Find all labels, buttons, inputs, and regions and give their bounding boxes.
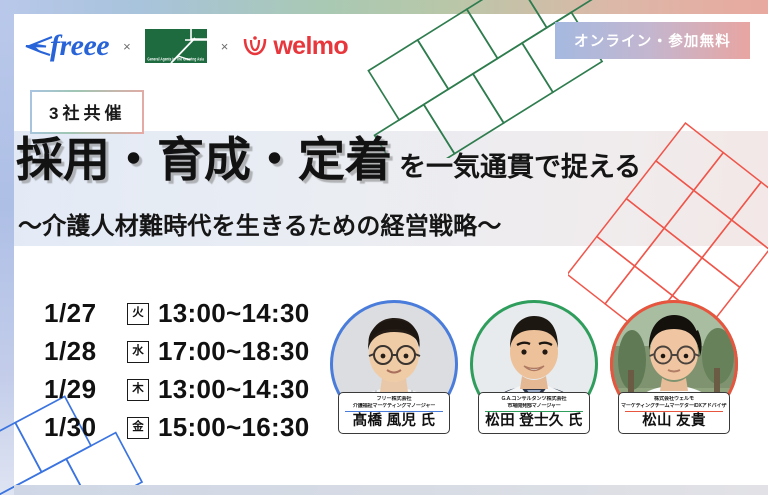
freee-logo: freee bbox=[24, 29, 109, 63]
speaker-org: G.A.コンサルタンツ株式会社 bbox=[481, 396, 587, 403]
headline-subtitle: 〜介護人材難時代を生きるための経営戦略〜 bbox=[18, 206, 502, 241]
schedule-date: 1/29 bbox=[44, 374, 118, 405]
headline: 採用・育成・定着 を一気通貫で捉える bbox=[16, 136, 641, 183]
schedule-time: 13:00~14:30 bbox=[158, 298, 309, 329]
schedule-row: 1/30金15:00~16:30 bbox=[44, 412, 309, 443]
schedule-row: 1/27火13:00~14:30 bbox=[44, 298, 309, 329]
speaker-name-card: 株式会社ウェルモマーケティングチームマーケター/DXアドバイザー松山 友貴 bbox=[618, 392, 730, 434]
speaker-role: 介護福祉マーケティングマノージャー bbox=[341, 403, 447, 411]
schedule-weekday: 水 bbox=[127, 341, 149, 363]
speaker-name-card: G.A.コンサルタンツ株式会社市場開発部マノージャー松田 登士久 氏 bbox=[478, 392, 590, 434]
schedule-date: 1/30 bbox=[44, 412, 118, 443]
online-free-badge: オンライン・参加無料 bbox=[555, 22, 750, 59]
bottom-bar bbox=[14, 485, 768, 495]
left-gradient-bar bbox=[0, 14, 14, 495]
speaker-role: 市場開発部マノージャー bbox=[481, 403, 587, 411]
schedule-weekday: 金 bbox=[127, 417, 149, 439]
schedule-list: 1/27火13:00~14:301/28水17:00~18:301/29木13:… bbox=[44, 298, 309, 443]
schedule-weekday: 火 bbox=[127, 303, 149, 325]
speaker-role: マーケティングチームマーケター/DXアドバイザー bbox=[621, 403, 727, 411]
speaker-name: 髙橋 風児 氏 bbox=[341, 414, 447, 430]
ga-tagline: General Agents In The Growing Asia bbox=[145, 57, 207, 62]
promo-banner: freee × General Agents In The Growing As… bbox=[0, 0, 768, 495]
headline-suffix: を一気通貫で捉える bbox=[399, 154, 641, 183]
logo-row: freee × General Agents In The Growing As… bbox=[24, 26, 348, 66]
schedule-date: 1/28 bbox=[44, 336, 118, 367]
speaker-name: 松田 登士久 氏 bbox=[481, 414, 587, 430]
welmo-w-icon bbox=[242, 35, 268, 57]
schedule-time: 15:00~16:30 bbox=[158, 412, 309, 443]
speaker-org: 株式会社ウェルモ bbox=[621, 396, 727, 403]
speaker-card: G.A.コンサルタンツ株式会社市場開発部マノージャー松田 登士久 氏 bbox=[470, 300, 598, 428]
speaker-card: 株式会社ウェルモマーケティングチームマーケター/DXアドバイザー松山 友貴 bbox=[610, 300, 738, 428]
speaker-org: フリー株式会社 bbox=[341, 396, 447, 403]
freee-wordmark: freee bbox=[50, 31, 109, 61]
welmo-wordmark: welmo bbox=[273, 34, 348, 59]
cohost-badge: 3社共催 bbox=[30, 90, 144, 134]
speaker-list: フリー株式会社介護福祉マーケティングマノージャー髙橋 風児 氏 G.A.コンサル… bbox=[330, 300, 738, 428]
schedule-row: 1/29木13:00~14:30 bbox=[44, 374, 309, 405]
logo-separator-2: × bbox=[221, 39, 229, 54]
welmo-logo: welmo bbox=[242, 34, 348, 59]
schedule-date: 1/27 bbox=[44, 298, 118, 329]
logo-separator-1: × bbox=[123, 39, 131, 54]
headline-main: 採用・育成・定着 bbox=[16, 136, 392, 183]
speaker-name: 松山 友貴 bbox=[621, 414, 727, 430]
schedule-time: 17:00~18:30 bbox=[158, 336, 309, 367]
schedule-time: 13:00~14:30 bbox=[158, 374, 309, 405]
speaker-name-card: フリー株式会社介護福祉マーケティングマノージャー髙橋 風児 氏 bbox=[338, 392, 450, 434]
ga-consultants-logo: General Agents In The Growing Asia bbox=[145, 29, 207, 63]
schedule-row: 1/28水17:00~18:30 bbox=[44, 336, 309, 367]
top-gradient-bar bbox=[0, 0, 768, 14]
speaker-card: フリー株式会社介護福祉マーケティングマノージャー髙橋 風児 氏 bbox=[330, 300, 458, 428]
schedule-weekday: 木 bbox=[127, 379, 149, 401]
